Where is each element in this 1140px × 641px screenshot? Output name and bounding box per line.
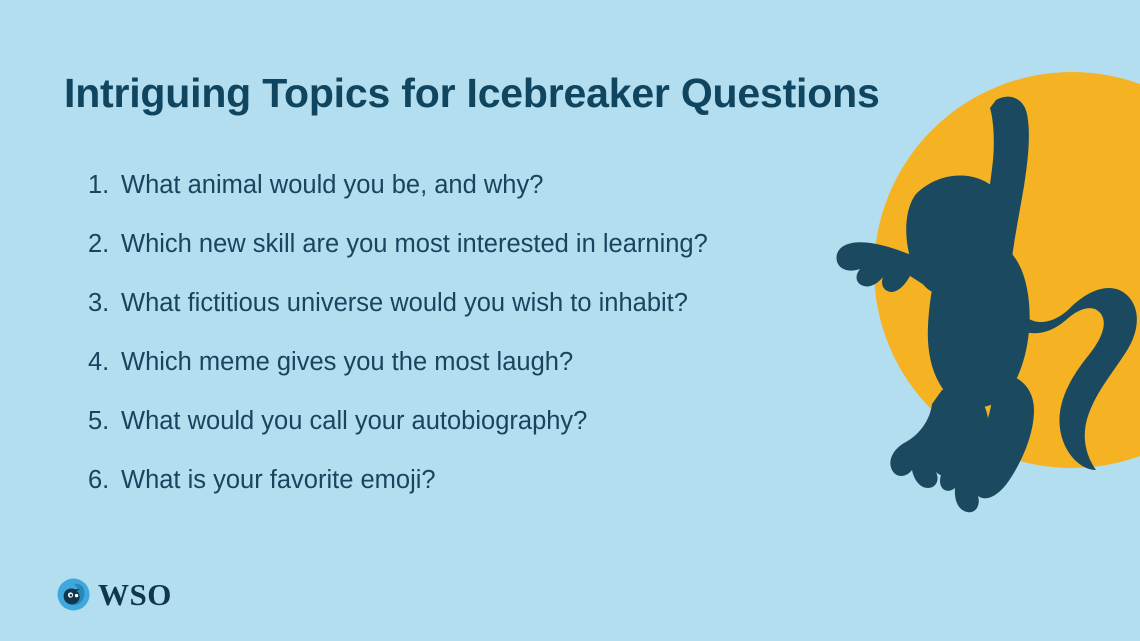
list-item-text: Which new skill are you most interested … xyxy=(121,229,708,259)
list-item-text: Which meme gives you the most laugh? xyxy=(121,347,573,377)
list-item: 1. What animal would you be, and why? xyxy=(88,170,848,229)
list-item-number: 2. xyxy=(88,229,121,259)
slide-canvas: Intriguing Topics for Icebreaker Questio… xyxy=(0,0,1140,641)
list-item-number: 5. xyxy=(88,406,121,436)
list-item: 6. What is your favorite emoji? xyxy=(88,465,848,524)
monkey-silhouette-icon xyxy=(836,97,1136,513)
wso-wordmark: WSO xyxy=(98,579,172,610)
list-item-number: 4. xyxy=(88,347,121,377)
list-item-text: What would you call your autobiography? xyxy=(121,406,587,436)
list-item-number: 6. xyxy=(88,465,121,495)
list-item: 4. Which meme gives you the most laugh? xyxy=(88,347,848,406)
list-item-number: 3. xyxy=(88,288,121,318)
list-item-text: What is your favorite emoji? xyxy=(121,465,436,495)
list-item-text: What animal would you be, and why? xyxy=(121,170,543,200)
list-item: 3. What fictitious universe would you wi… xyxy=(88,288,848,347)
sun-circle-icon xyxy=(874,72,1140,468)
list-item-number: 1. xyxy=(88,170,121,200)
wso-globe-icon xyxy=(57,578,90,611)
list-item: 2. Which new skill are you most interest… xyxy=(88,229,848,288)
icebreaker-question-list: 1. What animal would you be, and why? 2.… xyxy=(88,170,848,524)
list-item: 5. What would you call your autobiograph… xyxy=(88,406,848,465)
page-title: Intriguing Topics for Icebreaker Questio… xyxy=(64,71,880,117)
wso-logo: WSO xyxy=(57,578,172,611)
list-item-text: What fictitious universe would you wish … xyxy=(121,288,688,318)
